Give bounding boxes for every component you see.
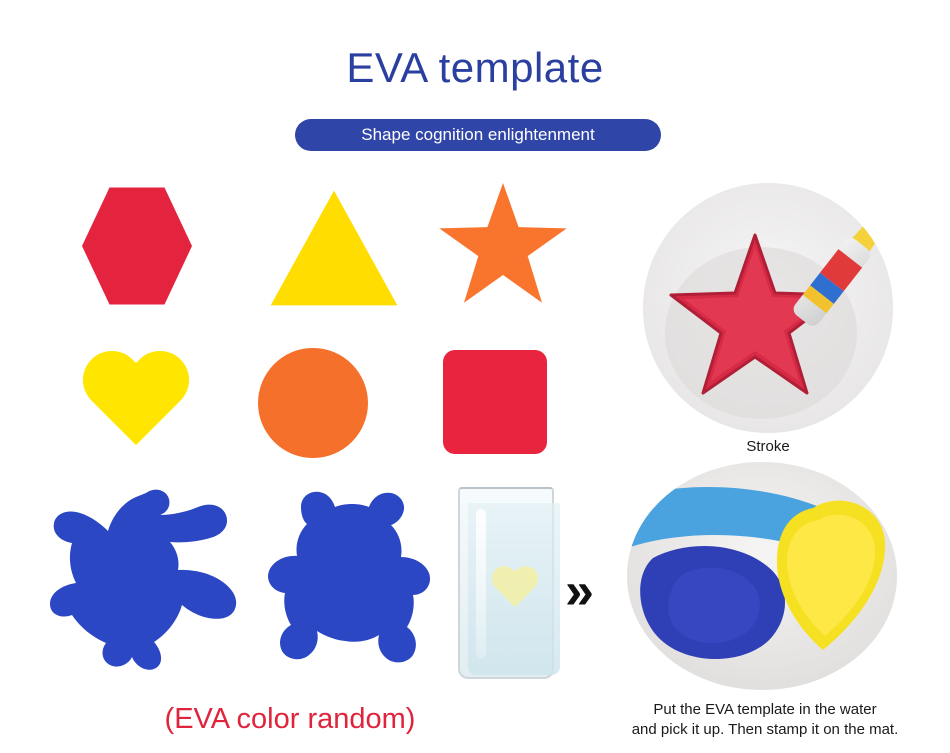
bird-shape <box>50 485 240 670</box>
water-glass <box>452 487 562 687</box>
stamp-photo <box>627 462 897 690</box>
color-random-note: (EVA color random) <box>120 700 460 738</box>
stamp-caption-line1: Put the EVA template in the water <box>600 700 930 720</box>
bear-shape <box>265 487 440 667</box>
triangle-shape <box>268 187 400 309</box>
page-title: EVA template <box>0 42 950 94</box>
subtitle-banner: Shape cognition enlightenment <box>295 119 661 151</box>
star-shape <box>438 183 568 309</box>
heart-shape <box>78 353 194 457</box>
double-chevron-right-icon: » <box>565 565 594 617</box>
rounded-square-shape <box>443 350 547 454</box>
glass-body <box>458 487 554 679</box>
stamp-caption: Put the EVA template in the water and pi… <box>600 700 930 740</box>
stroke-caption: Stroke <box>643 437 893 457</box>
stamp-caption-line2: and pick it up. Then stamp it on the mat… <box>600 720 930 740</box>
circle-shape <box>258 348 368 458</box>
heart-in-water <box>490 567 540 611</box>
hexagon-shape <box>82 185 192 307</box>
stroke-photo <box>643 183 893 433</box>
glass-highlight <box>476 509 486 659</box>
